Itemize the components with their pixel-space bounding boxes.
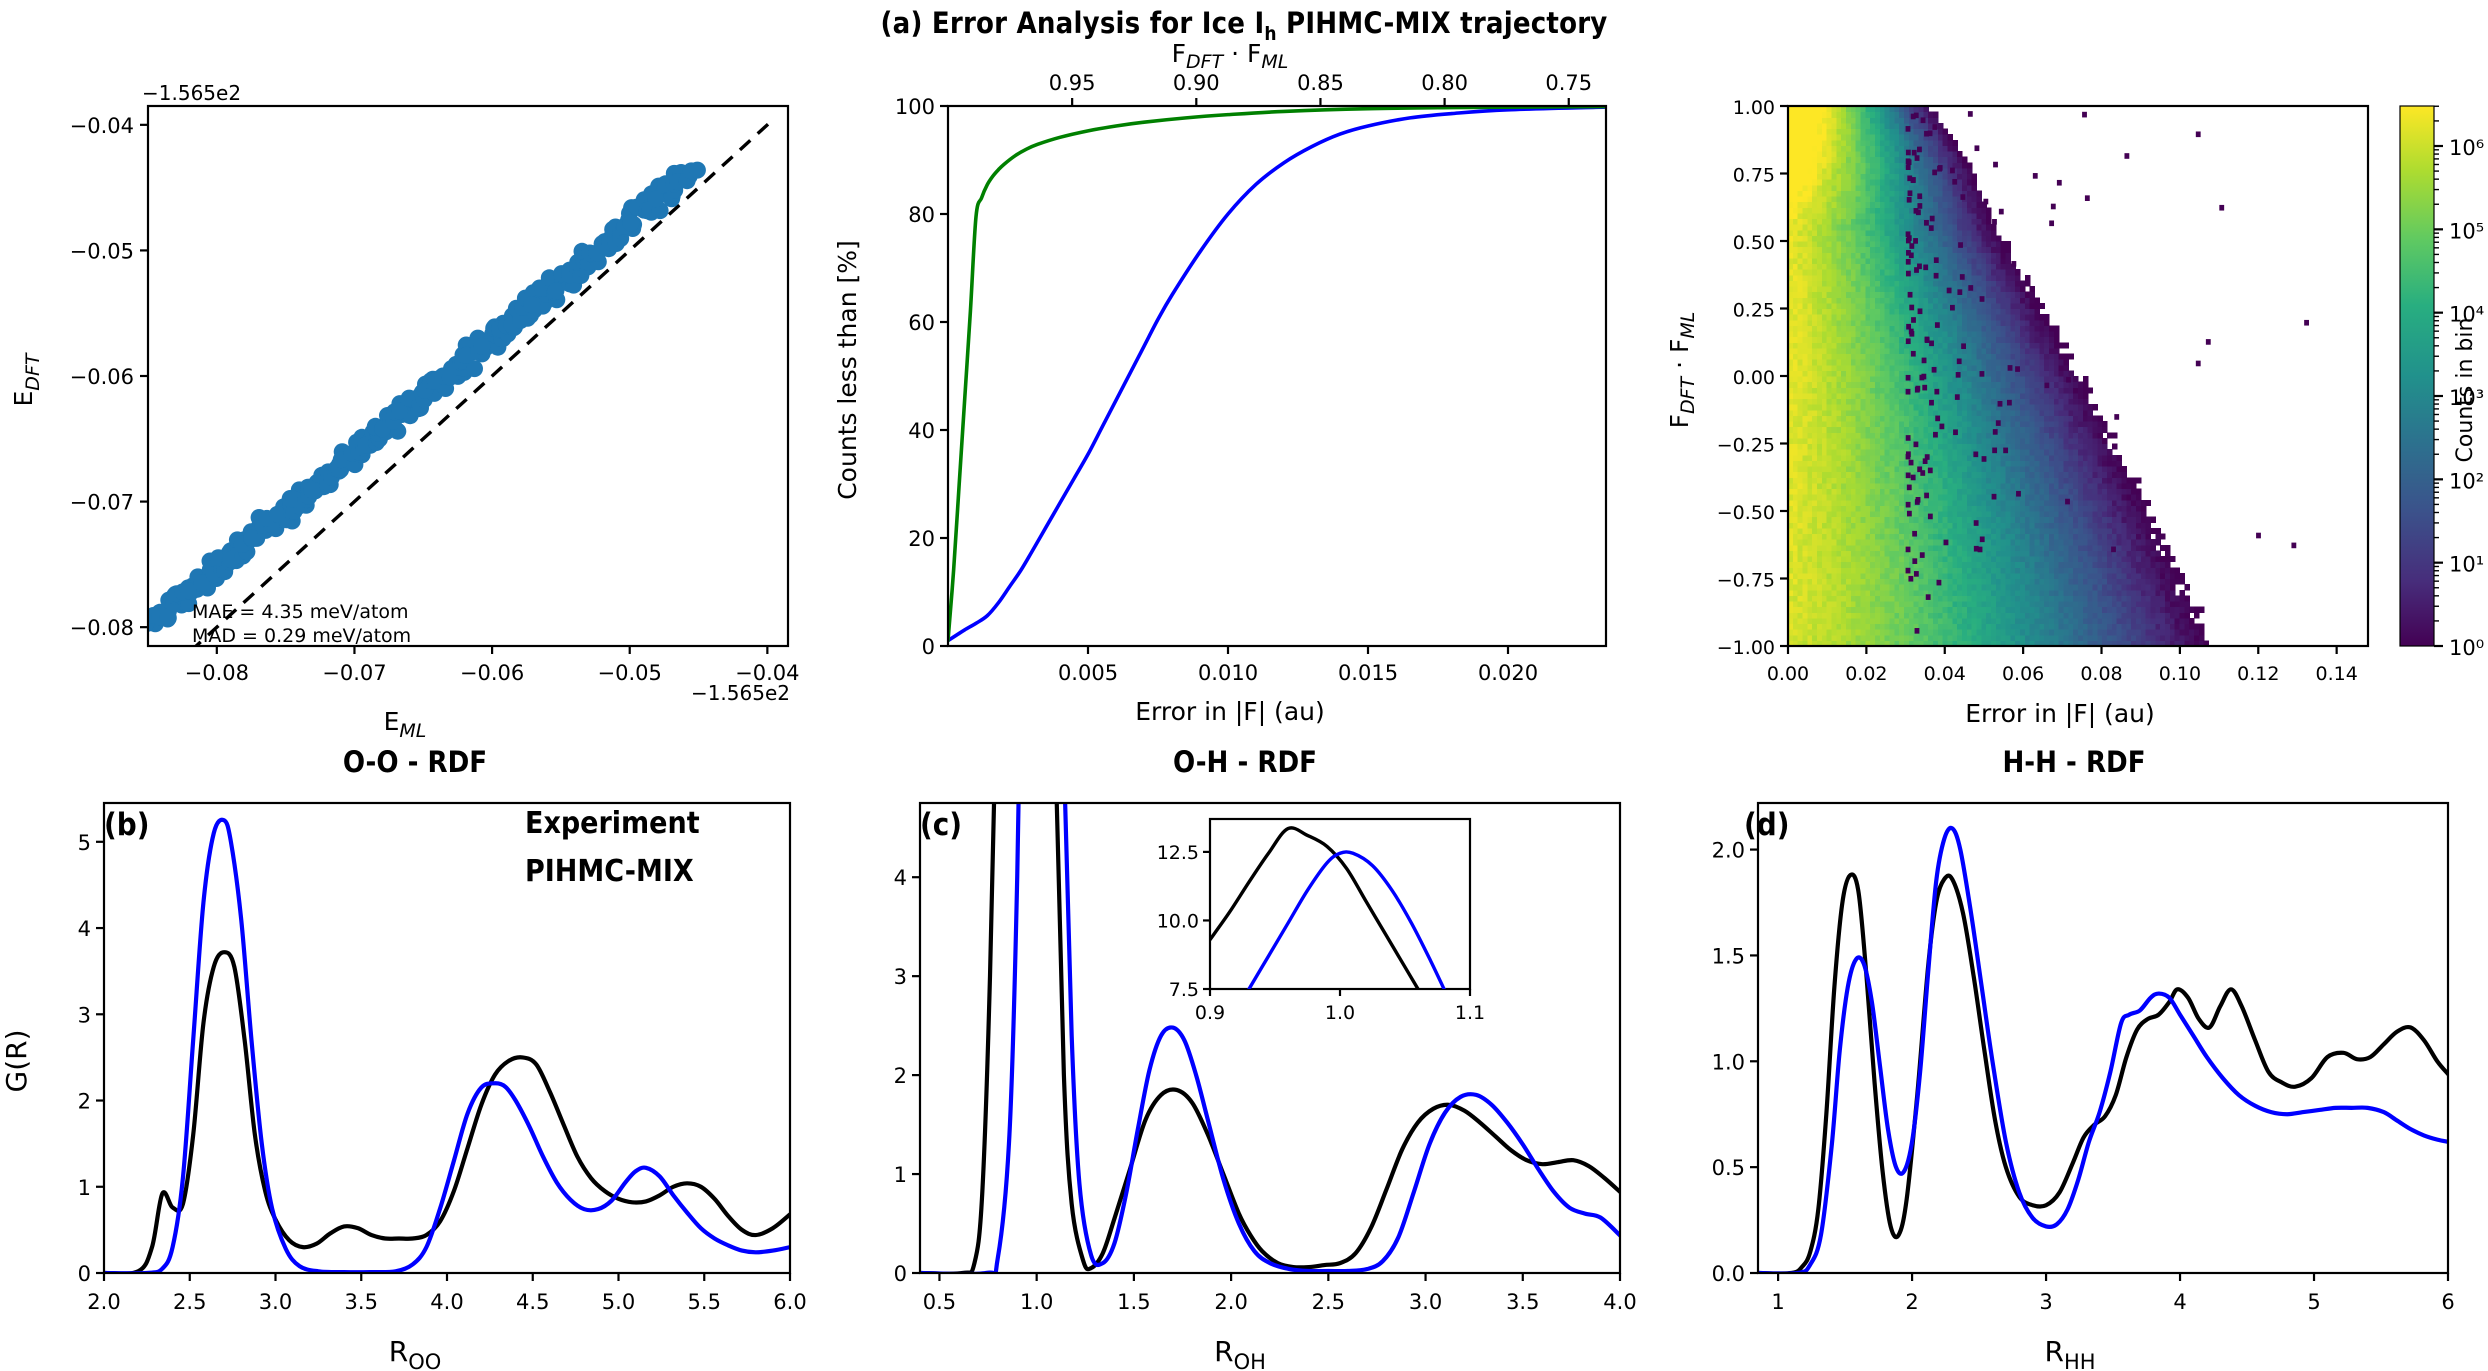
- tick-label: 1.0: [1020, 1290, 1053, 1314]
- cdf-yaxis-label: Counts less than [%]: [833, 240, 862, 500]
- tick-label: 100: [895, 95, 935, 119]
- heatmap-xaxis-label: Error in |F| (au): [1965, 699, 2154, 728]
- tick-label: 0.12: [2237, 663, 2279, 685]
- tick-label: 2: [1905, 1290, 1918, 1314]
- panel-b-yaxis-label: G(R): [0, 1030, 33, 1093]
- tick-label: 80: [908, 203, 935, 227]
- tick-label: 12.5: [1157, 842, 1199, 864]
- legend-experiment: Experiment: [525, 806, 700, 841]
- tick-label: 2.0: [1214, 1290, 1247, 1314]
- tick-label: 2.0: [87, 1290, 120, 1314]
- tick-label: 3: [78, 1003, 91, 1027]
- tick-label: 0.75: [1545, 71, 1592, 95]
- tick-label: 0.50: [1733, 232, 1775, 254]
- tick-label: 0.5: [1712, 1156, 1745, 1180]
- tick-label: 0.25: [1733, 300, 1775, 322]
- tick-label: 20: [908, 527, 935, 551]
- heatmap-plot-svg: 0.000.020.040.060.080.100.120.14−1.00−0.…: [1660, 40, 2488, 740]
- rdf-curve-pihmc-mix: [1758, 828, 2448, 1274]
- tick-label: 10⁵: [2449, 219, 2484, 243]
- tick-label: 0.75: [1733, 165, 1775, 187]
- tick-label: 0.06: [2002, 663, 2044, 685]
- heatmap-bins: [1788, 106, 2309, 647]
- tick-label: 2: [78, 1090, 91, 1114]
- panel-d-label: (d): [1744, 807, 1789, 843]
- tick-label: 1.0: [1325, 1002, 1355, 1024]
- tick-label: 1.00: [1733, 97, 1775, 119]
- parity-diagonal-line: [155, 122, 770, 683]
- tick-label: 0.14: [2315, 663, 2357, 685]
- tick-label: −0.25: [1717, 435, 1775, 457]
- panel-c-rdf-oh: O-H - RDF 0.51.01.52.02.53.03.54.0012340…: [830, 745, 1660, 1371]
- tick-label: 10.0: [1157, 910, 1199, 932]
- tick-label: 1.5: [1117, 1290, 1150, 1314]
- tick-label: −0.05: [70, 239, 134, 263]
- tick-label: 2.5: [173, 1290, 206, 1314]
- tick-label: 40: [908, 419, 935, 443]
- axes-frame: [1758, 803, 2448, 1273]
- tick-label: 3.5: [1506, 1290, 1539, 1314]
- panel-b-title: O-O - RDF: [0, 745, 830, 779]
- tick-label: 3: [2039, 1290, 2052, 1314]
- tick-label: 4.5: [516, 1290, 549, 1314]
- cdf-xaxis-label-top: FDFT · FML: [1172, 39, 1289, 73]
- tick-label: 1: [1771, 1290, 1784, 1314]
- tick-label: 4: [78, 917, 91, 941]
- tick-label: −0.75: [1717, 570, 1775, 592]
- tick-label: 0.010: [1198, 661, 1258, 685]
- parity-plot-svg: −0.08−0.07−0.06−0.05−0.04−0.04−0.05−0.06…: [0, 40, 830, 740]
- tick-label: 7.5: [1169, 979, 1199, 1001]
- panel-b-rdf-oo: O-O - RDF 2.02.53.03.54.04.55.05.56.0012…: [0, 745, 830, 1371]
- panel-b-label: (b): [104, 807, 149, 843]
- panel-d-title: H-H - RDF: [1660, 745, 2488, 779]
- panel-c-label: (c): [920, 807, 962, 843]
- panel-b-xaxis-label: ROO: [389, 1335, 442, 1371]
- parity-yaxis-label: EDFT: [9, 352, 44, 406]
- tick-label: 0.04: [1924, 663, 1966, 685]
- tick-label: 4: [894, 866, 907, 890]
- tick-label: −0.06: [460, 661, 524, 685]
- tick-label: 1.5: [1712, 944, 1745, 968]
- tick-label: 2.5: [1312, 1290, 1345, 1314]
- tick-label: 10⁰: [2449, 636, 2484, 660]
- rdf-curve-experiment: [104, 952, 790, 1273]
- tick-label: 10²: [2449, 469, 2484, 493]
- tick-label: 3.0: [259, 1290, 292, 1314]
- tick-label: 0: [78, 1262, 91, 1286]
- tick-label: 0.10: [2159, 663, 2201, 685]
- tick-label: 0.00: [1767, 663, 1809, 685]
- tick-label: 5.5: [688, 1290, 721, 1314]
- tick-label: 2.0: [1712, 839, 1745, 863]
- tick-label: 1: [894, 1163, 907, 1187]
- tick-label: 5: [2307, 1290, 2320, 1314]
- tick-label: 10⁶: [2449, 136, 2484, 160]
- rdf-hh-plot-svg: 1234560.00.51.01.52.0 (d) RHH: [1660, 781, 2488, 1371]
- figure-title-prefix: (a) Error Analysis for Ice I: [881, 6, 1265, 40]
- panel-c-xaxis-label: ROH: [1214, 1335, 1266, 1371]
- tick-label: 0.90: [1173, 71, 1220, 95]
- axes-frame: [948, 106, 1606, 646]
- panel-d-rdf-hh: H-H - RDF 1234560.00.51.01.52.0 (d) RHH: [1660, 745, 2488, 1371]
- tick-label: −0.50: [1717, 502, 1775, 524]
- tick-label: 0.020: [1478, 661, 1538, 685]
- cdf-curve-error: [948, 107, 1606, 641]
- figure-title-suffix: PIHMC-MIX trajectory: [1277, 6, 1608, 40]
- tick-label: 6.0: [773, 1290, 806, 1314]
- tick-label: 0.00: [1733, 367, 1775, 389]
- tick-label: 4.0: [430, 1290, 463, 1314]
- tick-label: 60: [908, 311, 935, 335]
- tick-label: 10¹: [2449, 553, 2484, 577]
- parity-xaxis-label: EML: [384, 707, 427, 742]
- tick-label: 0.08: [2080, 663, 2122, 685]
- scatter-points: [133, 162, 706, 633]
- panel-a-heatmap: 0.000.020.040.060.080.100.120.14−1.00−0.…: [1660, 40, 2488, 740]
- tick-label: 3: [894, 965, 907, 989]
- tick-label: 0.005: [1058, 661, 1118, 685]
- tick-label: 0.9: [1195, 1002, 1225, 1024]
- rdf-oh-plot-svg: 0.51.01.52.02.53.03.54.0012340.91.01.17.…: [830, 781, 1660, 1371]
- parity-x-offset-label: −1.565e2: [691, 681, 790, 705]
- tick-label: 0.5: [923, 1290, 956, 1314]
- tick-label: 1.0: [1712, 1050, 1745, 1074]
- tick-label: 5.0: [602, 1290, 635, 1314]
- legend-pihmc-mix: PIHMC-MIX: [525, 854, 694, 889]
- colorbar-label: Counts in bin: [2453, 318, 2478, 463]
- parity-annotation-mae: MAE = 4.35 meV/atom: [192, 601, 409, 623]
- figure-root: (a) Error Analysis for Ice Ih PIHMC-MIX …: [0, 0, 2488, 1371]
- panel-c-title: O-H - RDF: [830, 745, 1660, 779]
- tick-label: 0.0: [1712, 1262, 1745, 1286]
- tick-label: −0.05: [598, 661, 662, 685]
- tick-label: 3.5: [345, 1290, 378, 1314]
- rdf-curve-experiment: [1758, 874, 2448, 1273]
- tick-label: 0.02: [1845, 663, 1887, 685]
- panel-d-xaxis-label: RHH: [2044, 1335, 2095, 1371]
- tick-label: 0.015: [1338, 661, 1398, 685]
- tick-label: 3.0: [1409, 1290, 1442, 1314]
- tick-label: −0.06: [70, 365, 134, 389]
- tick-label: 0.95: [1049, 71, 1096, 95]
- panel-a-parity: −0.08−0.07−0.06−0.05−0.04−0.04−0.05−0.06…: [0, 40, 830, 740]
- cdf-curve-alignment: [948, 107, 1606, 641]
- rdf-oo-plot-svg: 2.02.53.03.54.04.55.05.56.0012345 (b) Ex…: [0, 781, 830, 1371]
- cdf-xaxis-label-bottom: Error in |F| (au): [1135, 697, 1324, 726]
- parity-y-offset-label: −1.565e2: [142, 81, 241, 105]
- tick-label: 4.0: [1603, 1290, 1636, 1314]
- tick-label: 1: [78, 1176, 91, 1200]
- tick-label: −0.04: [70, 114, 134, 138]
- tick-label: −0.08: [185, 661, 249, 685]
- tick-label: −0.07: [70, 491, 134, 515]
- tick-label: −0.08: [70, 616, 134, 640]
- tick-label: 5: [78, 831, 91, 855]
- tick-label: −0.07: [322, 661, 386, 685]
- tick-label: 0: [894, 1262, 907, 1286]
- tick-label: 0.85: [1297, 71, 1344, 95]
- heatmap-yaxis-label: FDFT · FML: [1665, 312, 1699, 429]
- panel-a-cdf: 0.0050.0100.0150.0200204060801000.950.90…: [830, 40, 1660, 740]
- tick-label: 4: [2173, 1290, 2186, 1314]
- cdf-plot-svg: 0.0050.0100.0150.0200204060801000.950.90…: [830, 40, 1660, 740]
- parity-annotation-mad: MAD = 0.29 meV/atom: [192, 625, 411, 647]
- colorbar: [2400, 106, 2434, 646]
- tick-label: 2: [894, 1064, 907, 1088]
- tick-label: 1.1: [1455, 1002, 1485, 1024]
- tick-label: 0: [922, 635, 935, 659]
- tick-label: 0.80: [1421, 71, 1468, 95]
- tick-label: 6: [2441, 1290, 2454, 1314]
- tick-label: −1.00: [1717, 637, 1775, 659]
